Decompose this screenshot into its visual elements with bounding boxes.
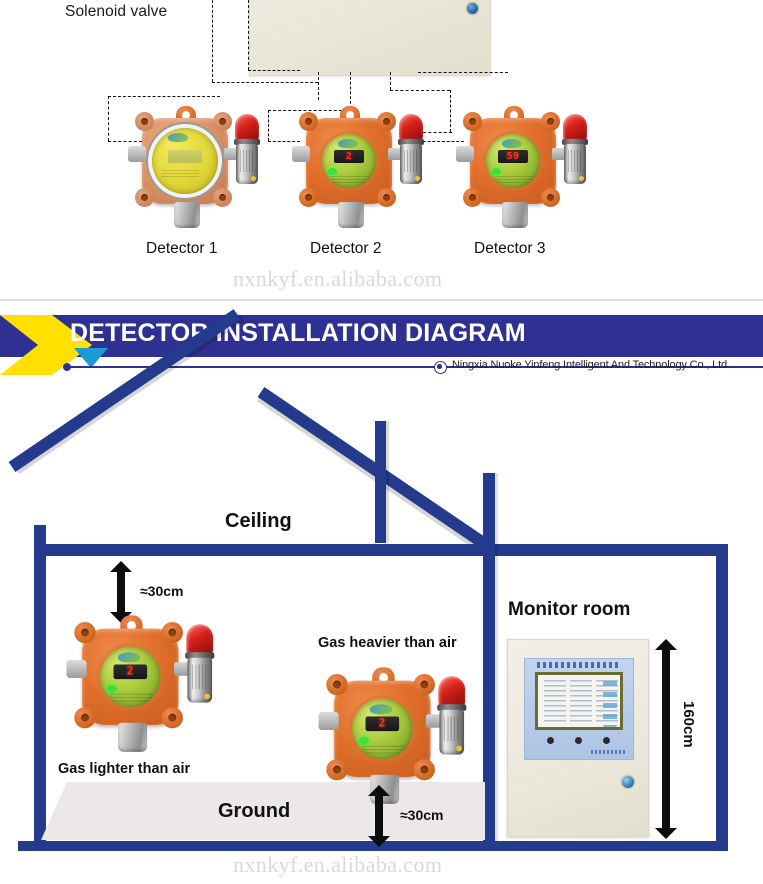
ground-gap-arrow [368,785,390,847]
detector-display-window: 2 [352,699,412,759]
controller-title-text [537,662,621,668]
beacon-dome-icon [235,114,259,140]
chimney [375,421,386,543]
arrow-head-down-icon [368,836,390,847]
gas-sensor-probe [174,202,200,228]
cable-gland-icon [318,712,338,730]
beacon-indicator-icon [251,176,256,181]
ceiling-label: Ceiling [225,510,292,533]
mounting-lug-icon [74,622,95,643]
ceiling-detector-readout: 2 [114,665,148,680]
wire-segment [450,90,451,132]
controller-button[interactable] [547,737,554,744]
watermark-bottom: nxnkyf.en.alibaba.com [233,852,442,878]
gas-sensor-probe [502,202,528,228]
solenoid-valve-label: Solenoid valve [65,3,167,21]
mounting-lug-icon [414,674,435,695]
detector-display-window: 2 [322,134,376,188]
house-cross-section: Ceiling Ground ≈30cm [0,377,763,884]
panel-height-arrow [655,639,677,839]
beacon-dome-icon [186,624,213,653]
gas-alarm-controller-panel [507,639,649,837]
arrow-head-down-icon [655,828,677,839]
brand-logo-icon [118,652,140,662]
watermark-top: nxnkyf.en.alibaba.com [233,266,442,292]
wire-segment [248,0,249,70]
cable-gland-icon [66,660,86,678]
roof-right-slope [258,387,490,550]
beacon-grill [444,717,460,742]
floor-detector-readout: 2 [366,717,400,732]
mounting-lug-icon [299,112,318,131]
wire-segment [248,70,300,71]
detector-2-readout: 2 [334,150,364,163]
mounting-lug-icon [377,188,396,207]
alarm-beacon-sounder [234,114,260,188]
mounting-lug-icon [135,188,154,207]
alarm-beacon-sounder [437,676,466,759]
beacon-indicator-icon [415,176,420,181]
cabinet-lock-icon [467,3,478,14]
beacon-grill [240,150,254,172]
controller-screen [535,672,623,730]
brand-logo-icon [502,139,522,148]
brand-logo-icon [168,133,188,142]
beacon-grill [404,150,418,172]
brand-logo-icon [370,704,392,714]
exterior-wall-right [716,553,728,850]
detector-display-window [152,128,218,194]
cable-gland-icon [128,146,146,162]
beacon-grill [568,150,582,172]
ground-label: Ground [218,800,290,823]
mounting-lug-icon [213,188,232,207]
power-led-icon [359,737,369,745]
gas-sensor-probe [338,202,364,228]
controller-cabinet [249,0,491,76]
cabinet-lock-icon[interactable] [622,776,634,788]
wire-segment [418,72,508,73]
wire-segment [212,0,213,82]
faceplate-text [495,176,533,184]
page-title: DETECTOR INSTALLATION DIAGRAM [70,319,526,348]
gas-lighter-label: Gas lighter than air [58,761,190,777]
alarm-beacon-sounder [562,114,588,188]
detector-3-readout: 59 [498,150,528,163]
exterior-wall-left [34,525,46,850]
detector-display-window: 59 [486,134,540,188]
cyan-triangle-accent [74,348,108,368]
alarm-beacon-sounder [398,114,424,188]
mounting-lug-icon [326,674,347,695]
controller-brand-text [591,750,627,754]
gas-sensor-probe [118,723,147,752]
mounting-lug-icon [162,707,183,728]
power-led-icon [328,168,337,175]
detector-installation-diagram-page: Solenoid valve [0,0,763,884]
floor-mounted-detector: 2 [314,665,462,802]
beacon-indicator-icon [579,176,584,181]
beacon-indicator-icon [456,746,462,752]
beacon-indicator-icon [204,694,210,700]
faceplate-text [362,746,405,755]
mounting-lug-icon [377,112,396,131]
wire-segment [108,96,220,97]
detector-1-unit [124,104,256,226]
detector-2-unit: 2 [288,104,420,226]
detector-2-caption: Detector 2 [310,240,382,258]
faceplate-text [331,176,369,184]
ceiling-gap-label: ≈30cm [140,583,184,599]
mounting-lug-icon [463,112,482,131]
mounting-lug-icon [463,188,482,207]
wire-segment [390,90,450,91]
arrow-shaft [662,647,670,831]
mounting-lug-icon [299,188,318,207]
controller-button[interactable] [603,737,610,744]
wire-segment [318,72,319,100]
ceiling-beam [34,544,728,556]
power-led-icon [107,685,117,693]
company-name: Ningxia Nuoke Yinfeng Intelligent And Te… [452,359,730,371]
detector-1-readout [168,150,202,163]
arrow-shaft [117,569,125,615]
cable-gland-icon [292,146,310,162]
mounting-lug-icon [414,759,435,780]
faceplate-text [110,694,153,703]
mounting-lug-icon [213,112,232,131]
panel-height-label: 160cm [680,701,697,748]
wire-segment [108,96,109,141]
detector-display-window: 2 [100,647,160,707]
beacon-grill [192,665,208,690]
power-led-icon [492,168,501,175]
cable-gland-icon [456,146,474,162]
ceiling-mounted-detector: 2 [62,613,210,750]
screen-icon-strip [603,681,617,727]
beacon-dome-icon [438,676,465,705]
mounting-lug-icon [541,112,560,131]
installation-diagram-section: DETECTOR INSTALLATION DIAGRAM Ningxia Nu… [0,301,763,884]
controller-faceplate [524,658,634,760]
alarm-beacon-sounder [185,624,214,707]
mounting-lug-icon [74,707,95,728]
wiring-diagram-section: Solenoid valve [0,0,763,300]
detector-1-caption: Detector 1 [146,240,218,258]
wire-segment [212,82,318,83]
wire-segment [390,72,391,90]
arrow-shaft [375,793,383,839]
controller-button[interactable] [575,737,582,744]
mounting-lug-icon [162,622,183,643]
monitor-room-label: Monitor room [508,599,630,621]
ground-gap-label: ≈30cm [400,807,444,823]
brand-logo-icon [338,139,358,148]
mounting-lug-icon [135,112,154,131]
mounting-lug-icon [326,759,347,780]
screen-data-column [570,680,592,724]
wire-segment [268,110,269,141]
detector-3-unit: 59 [452,104,584,226]
detector-3-caption: Detector 3 [474,240,546,258]
mounting-lug-icon [541,188,560,207]
screen-data-column [544,680,566,724]
faceplate-text [161,170,199,178]
beacon-dome-icon [399,114,423,140]
beacon-dome-icon [563,114,587,140]
gas-heavier-label: Gas heavier than air [318,635,457,651]
rule-target-icon [434,361,447,374]
